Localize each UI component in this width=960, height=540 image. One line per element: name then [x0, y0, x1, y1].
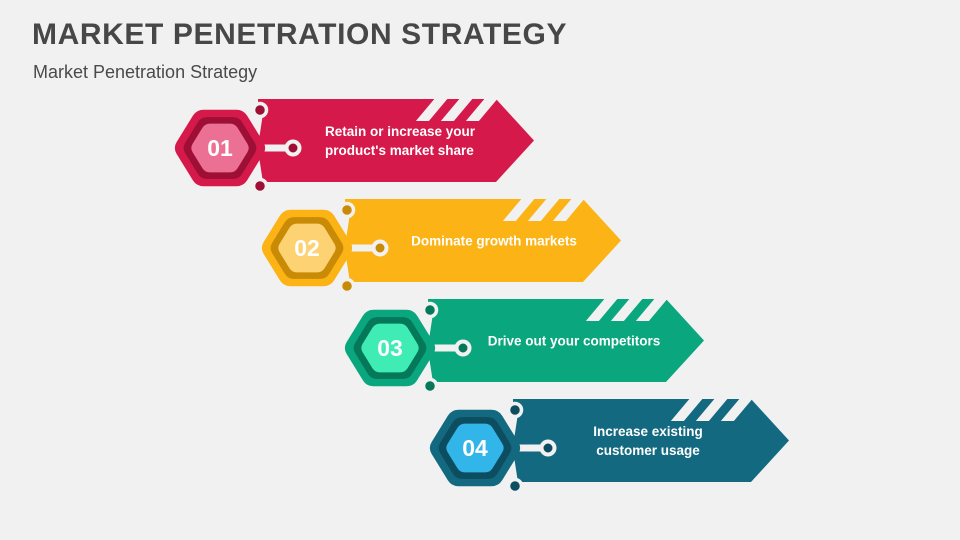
process-step-03[interactable]: 03Drive out your competitors	[345, 297, 704, 393]
step-label-line: Retain or increase your	[325, 124, 476, 139]
connector-endpoint-dot	[287, 142, 300, 155]
connector-endpoint-dot	[374, 242, 387, 255]
slide-canvas: MARKET PENETRATION STRATEGY Market Penet…	[0, 0, 960, 540]
step-label: Drive out your competitors	[488, 334, 661, 349]
process-step-04[interactable]: 04Increase existingcustomer usage	[430, 397, 789, 493]
step-number: 02	[294, 235, 320, 261]
connector-dot	[424, 380, 437, 393]
step-number: 01	[207, 135, 233, 161]
connector-dot	[341, 204, 354, 217]
connector-endpoint-dot	[542, 442, 555, 455]
step-label-line: Drive out your competitors	[488, 334, 661, 349]
process-step-02[interactable]: 02Dominate growth markets	[262, 197, 621, 293]
step-label: Dominate growth markets	[411, 234, 577, 249]
connector-dot	[341, 280, 354, 293]
step-label-line: Increase existing	[593, 424, 703, 439]
connector-dot	[509, 404, 522, 417]
step-band[interactable]	[258, 99, 534, 182]
connector-dot	[254, 180, 267, 193]
connector-dot	[424, 304, 437, 317]
step-number: 03	[377, 335, 403, 361]
step-label-line: customer usage	[596, 443, 700, 458]
step-band[interactable]	[513, 399, 789, 482]
step-number: 04	[462, 435, 488, 461]
step-label-line: Dominate growth markets	[411, 234, 577, 249]
connector-endpoint-dot	[457, 342, 470, 355]
step-label-line: product's market share	[325, 143, 474, 158]
connector-dot	[254, 104, 267, 117]
process-diagram: 01Retain or increase yourproduct's marke…	[0, 0, 960, 540]
process-step-01[interactable]: 01Retain or increase yourproduct's marke…	[175, 97, 534, 193]
connector-dot	[509, 480, 522, 493]
